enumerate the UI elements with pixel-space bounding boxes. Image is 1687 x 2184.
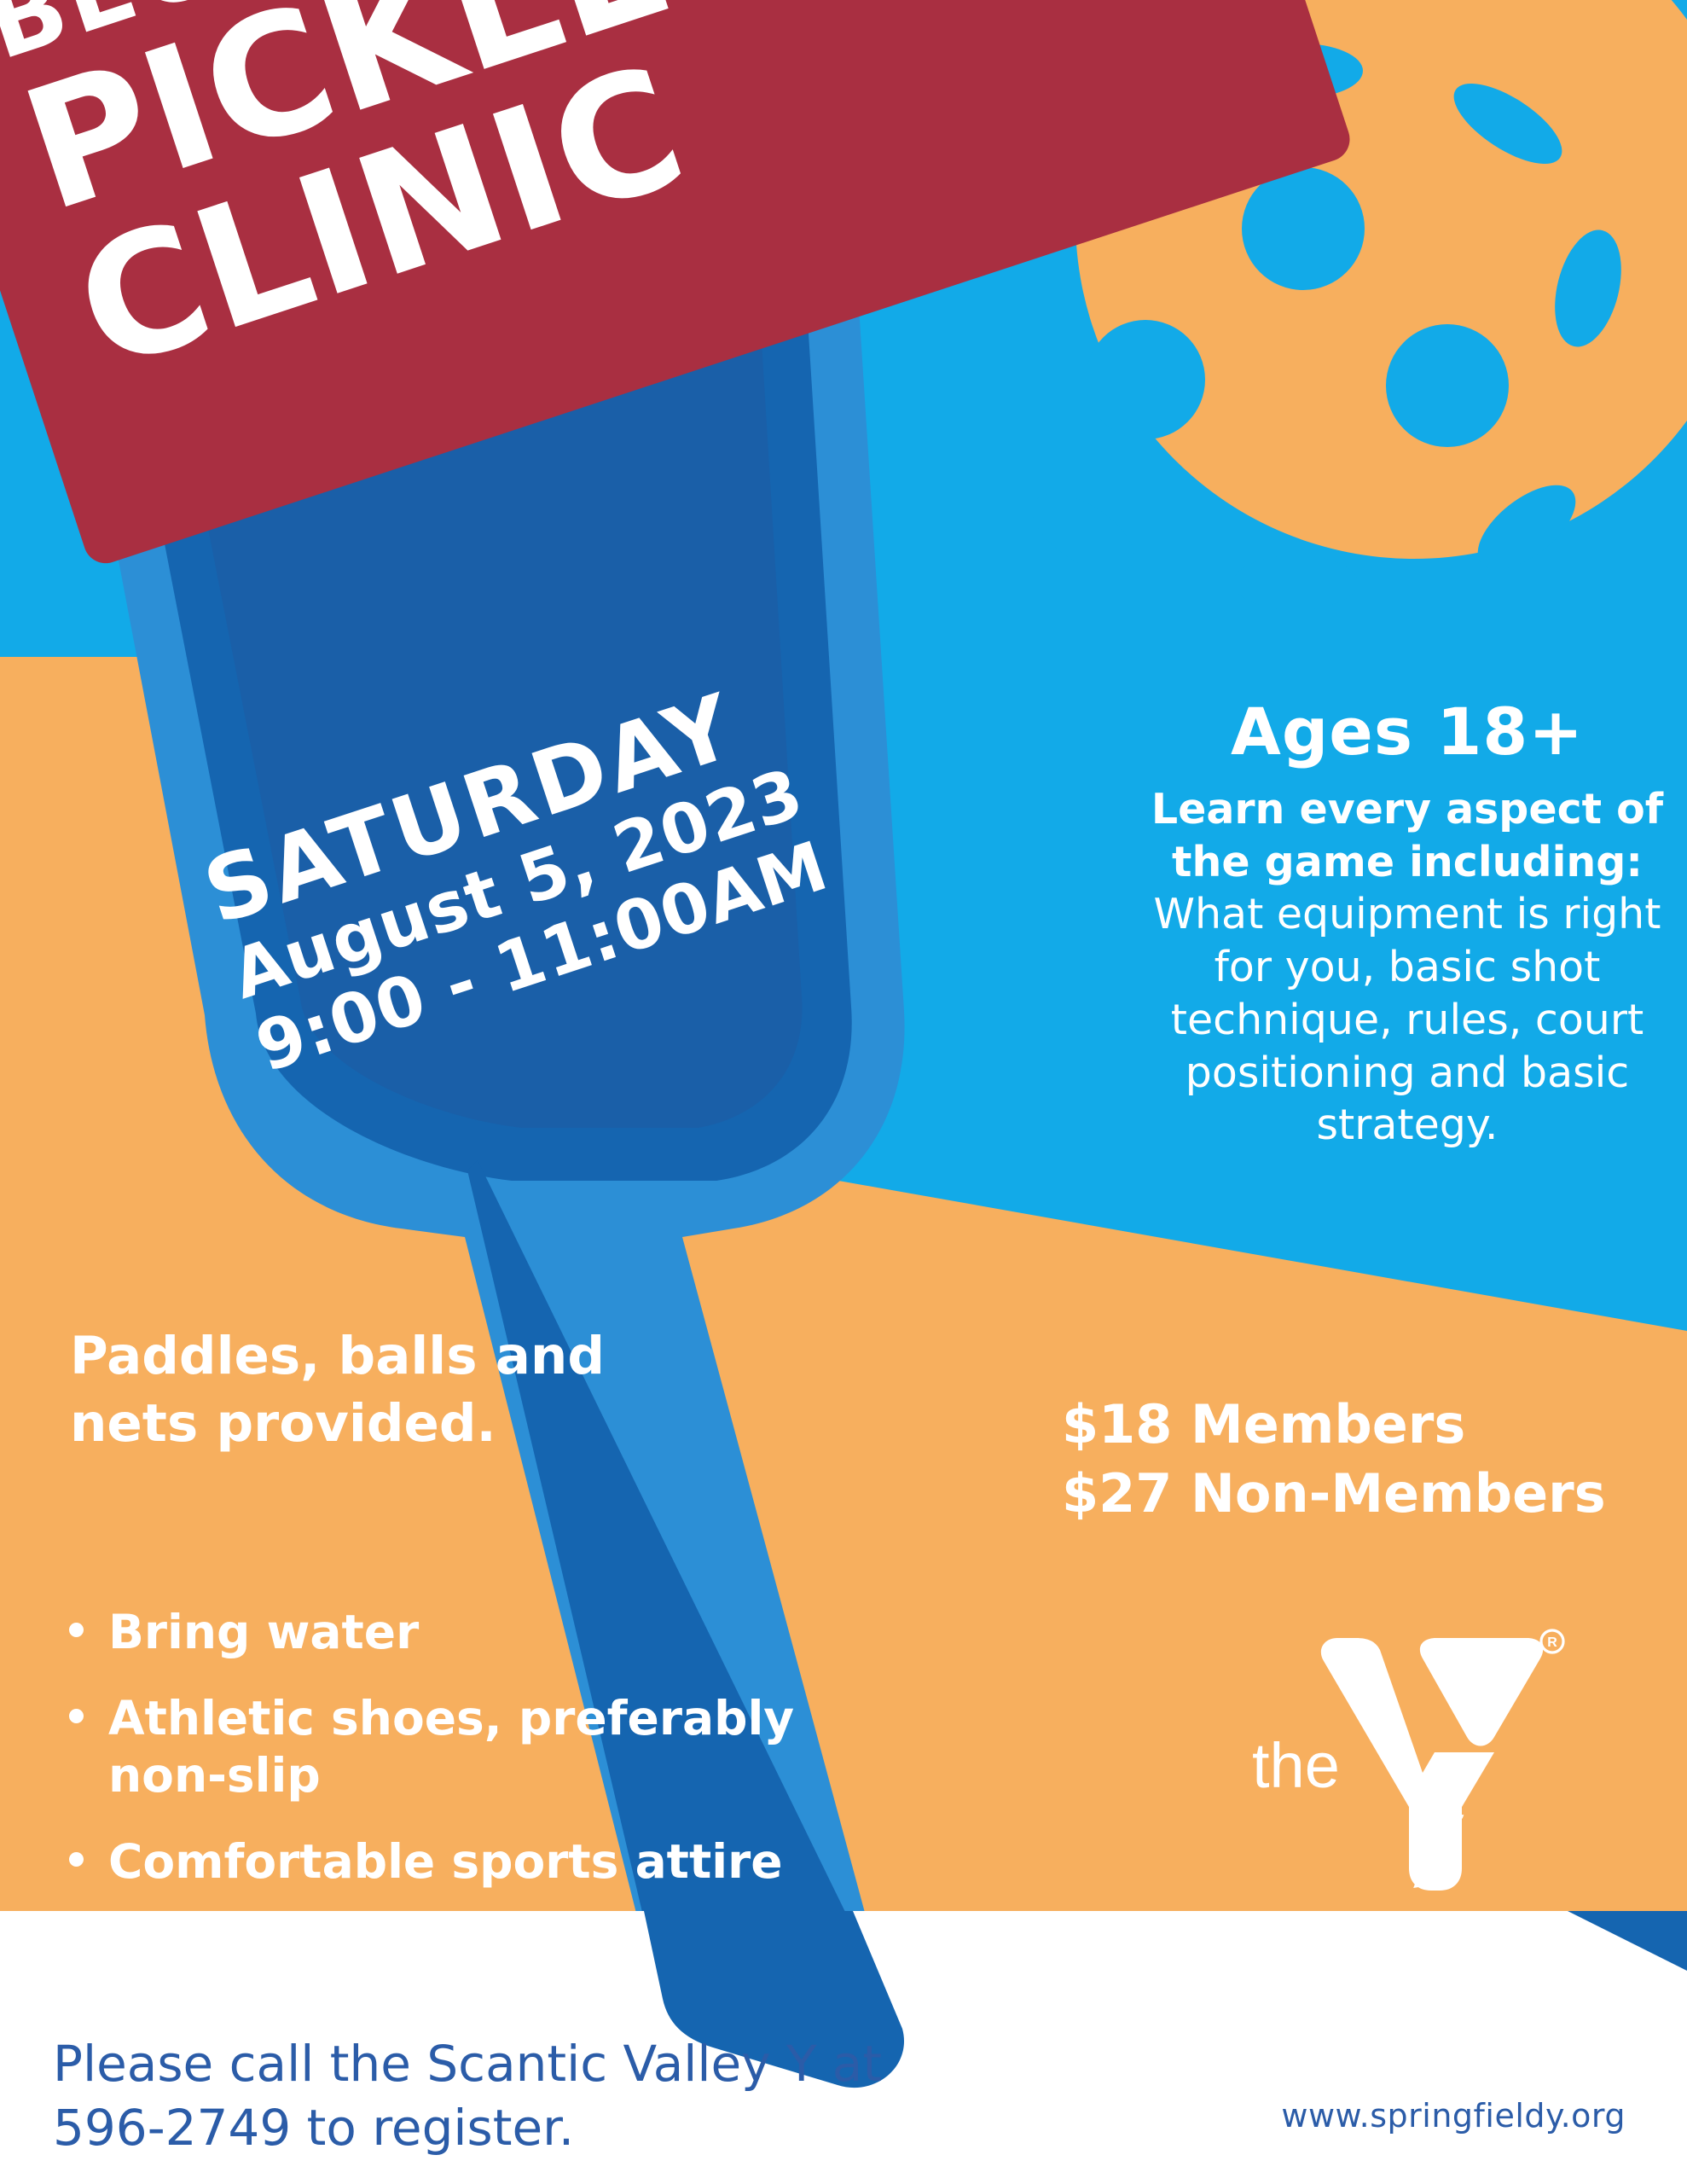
equipment-provided-text: Paddles, balls and nets provided. bbox=[70, 1322, 667, 1458]
list-item-label: Athletic shoes, preferably non-slip bbox=[108, 1691, 794, 1803]
ymca-logo-mark: R the YMCA bbox=[1211, 1578, 1586, 1920]
ymca-y-right-wedge bbox=[1420, 1638, 1543, 1746]
price-non-member: $27 Non-Members bbox=[1062, 1460, 1659, 1529]
bullet-dot-icon bbox=[69, 1709, 84, 1723]
clinic-description-bold: Learn every aspect of the game including… bbox=[1151, 785, 1663, 886]
list-item-label: Bring water bbox=[108, 1605, 419, 1659]
website-url[interactable]: www.springfieldy.org bbox=[1281, 2097, 1626, 2135]
price-member: $18 Members bbox=[1062, 1391, 1659, 1460]
svg-text:R: R bbox=[1547, 1635, 1557, 1650]
ages-heading: Ages 18+ bbox=[1134, 700, 1680, 764]
pricing-block: $18 Members $27 Non-Members bbox=[1062, 1391, 1659, 1528]
list-item: Athletic shoes, preferably non-slip bbox=[64, 1690, 917, 1804]
clinic-details-block: Ages 18+ Learn every aspect of the game … bbox=[1134, 700, 1680, 1152]
ymca-logo: R the YMCA bbox=[1211, 1578, 1586, 1920]
bullet-dot-icon bbox=[69, 1852, 84, 1867]
ymca-the-label: the bbox=[1252, 1730, 1340, 1801]
registration-phone-text: Please call the Scantic Valley Y at 596-… bbox=[53, 2032, 991, 2161]
list-item: Bring water bbox=[64, 1604, 917, 1661]
list-item-label: Comfortable sports attire bbox=[108, 1834, 783, 1889]
bullet-dot-icon bbox=[69, 1623, 84, 1637]
pickleball-clinic-poster: BEGINNER PICKLEBALL CLINIC SATURDAY Augu… bbox=[0, 0, 1687, 2184]
registered-trademark-icon: R bbox=[1541, 1630, 1563, 1653]
clinic-description: Learn every aspect of the game including… bbox=[1134, 783, 1680, 1152]
what-to-bring-list: Bring water Athletic shoes, preferably n… bbox=[64, 1604, 917, 1920]
clinic-description-rest: What equipment is right for you, basic s… bbox=[1154, 890, 1661, 1149]
list-item: Comfortable sports attire bbox=[64, 1833, 917, 1891]
